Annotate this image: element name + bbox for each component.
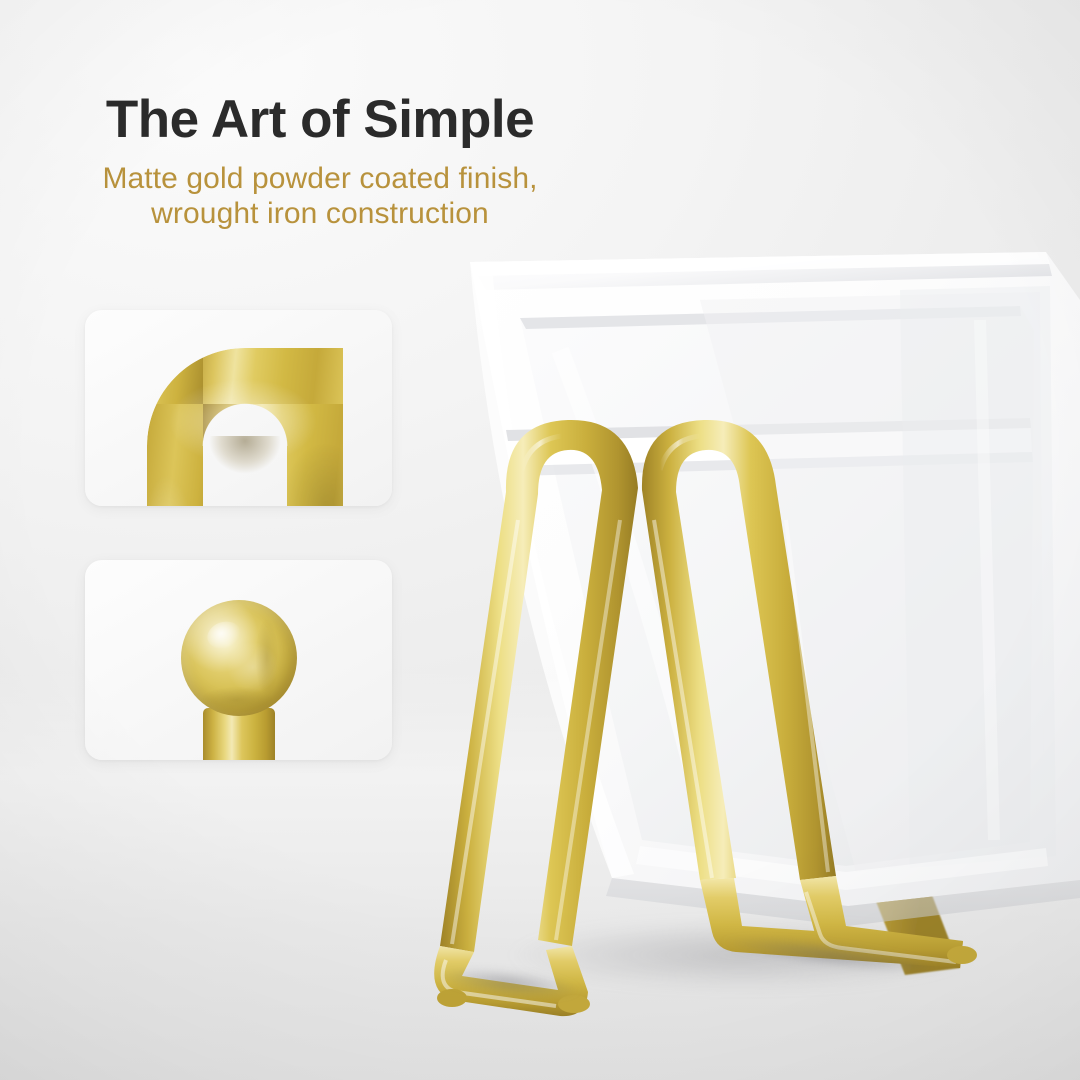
headline-block: The Art of Simple Matte gold powder coat… xyxy=(0,92,640,232)
card-hook-detail xyxy=(85,310,392,506)
subtitle-line-2: wrought iron construction xyxy=(151,197,489,230)
page-subtitle: Matte gold powder coated finish, wrought… xyxy=(0,162,640,232)
gold-ball-finial-icon xyxy=(181,600,297,716)
ball-finial-detail-image xyxy=(85,560,392,760)
page-title: The Art of Simple xyxy=(0,92,640,148)
gold-u-bend-hook-icon xyxy=(147,348,392,506)
subtitle-line-1: Matte gold powder coated finish, xyxy=(102,162,537,195)
card-ball-finial-detail xyxy=(85,560,392,760)
product-marketing-image: The Art of Simple Matte gold powder coat… xyxy=(0,0,1080,1080)
hook-detail-image xyxy=(85,310,392,506)
